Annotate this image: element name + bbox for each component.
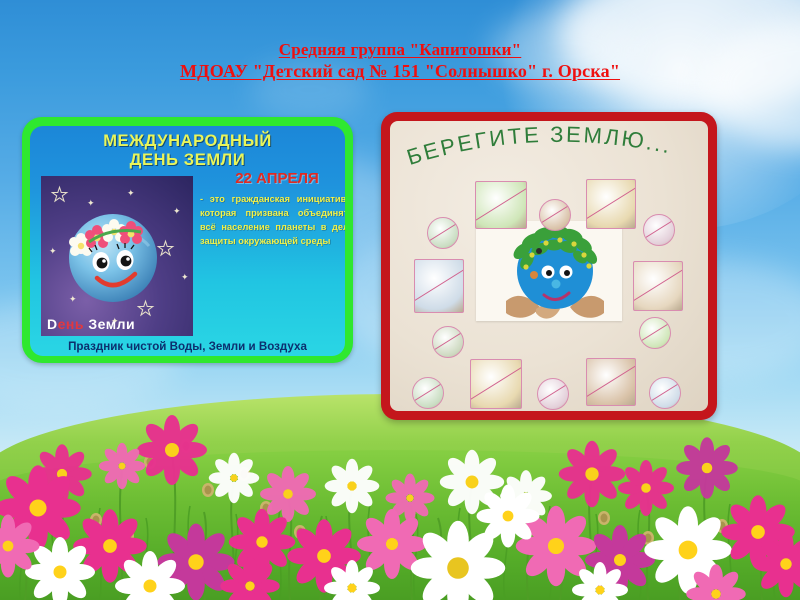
craft-card-branch-break	[633, 261, 683, 311]
earth-day-caption: Dень Земли	[47, 316, 135, 332]
craft-card-small-circle-1	[539, 199, 571, 231]
craft-handwritten-title: БЕРЕГИТЕ ЗЕМЛЮ...	[390, 125, 708, 171]
star-icon: ✦	[49, 246, 57, 257]
poster-heading: МЕЖДУНАРОДНЫЙ ДЕНЬ ЗЕМЛИ	[30, 132, 345, 171]
cosmos-flowers-foreground	[0, 350, 800, 600]
caption-letter-d: D	[47, 316, 58, 332]
craft-card-bird-nest	[586, 179, 636, 229]
craft-card-plants-picking	[475, 181, 527, 229]
prohibition-slash-icon	[643, 220, 675, 241]
prohibition-slash-icon	[633, 269, 683, 302]
star-icon: ✦	[127, 188, 135, 199]
caption-word-zemli: Земли	[88, 316, 135, 332]
svg-text:БЕРЕГИТЕ ЗЕМЛЮ...: БЕРЕГИТЕ ЗЕМЛЮ...	[404, 125, 675, 170]
star-icon: ✦	[181, 272, 189, 283]
craft-card-right-circle-2	[639, 317, 671, 349]
poster-inner: МЕЖДУНАРОДНЫЙ ДЕНЬ ЗЕМЛИ ★ ★ ★ ✦ ✦ ✦ ✦ ✦…	[30, 126, 345, 356]
slide-canvas: Средняя группа "Капитошки" МДОАУ "Детски…	[0, 0, 800, 600]
prohibition-slash-icon	[586, 187, 636, 220]
poster-heading-line2: ДЕНЬ ЗЕМЛИ	[30, 151, 345, 170]
earth-illustration-panel: ★ ★ ★ ✦ ✦ ✦ ✦ ✦ ✦ ✦	[41, 176, 193, 336]
craft-card-tree-damage	[414, 259, 464, 313]
caption-word-den: ень	[58, 316, 84, 332]
prohibition-slash-icon	[475, 188, 527, 222]
craft-card-right-circle-1	[643, 214, 675, 246]
poster-heading-line1: МЕЖДУНАРОДНЫЙ	[30, 132, 345, 151]
title-line-group: Средняя группа "Капитошки"	[0, 40, 800, 61]
smiling-earth-icon	[59, 202, 167, 310]
prohibition-slash-icon	[639, 323, 671, 344]
prohibition-slash-icon	[539, 205, 571, 226]
earth-day-date: 22 АПРЕЛЯ	[202, 170, 345, 187]
craft-card-left-circle-1	[427, 217, 459, 249]
earth-day-poster[interactable]: МЕЖДУНАРОДНЫЙ ДЕНЬ ЗЕМЛИ ★ ★ ★ ✦ ✦ ✦ ✦ ✦…	[22, 117, 353, 363]
title-line-institution: МДОАУ "Детский сад № 151 "Солнышко" г. О…	[0, 61, 800, 83]
earth-day-description: - это гражданская инициатива, которая пр…	[200, 192, 345, 249]
star-icon: ✦	[173, 206, 181, 217]
prohibition-slash-icon	[414, 269, 464, 302]
slide-title: Средняя группа "Капитошки" МДОАУ "Детски…	[0, 40, 800, 83]
prohibition-slash-icon	[427, 223, 459, 244]
